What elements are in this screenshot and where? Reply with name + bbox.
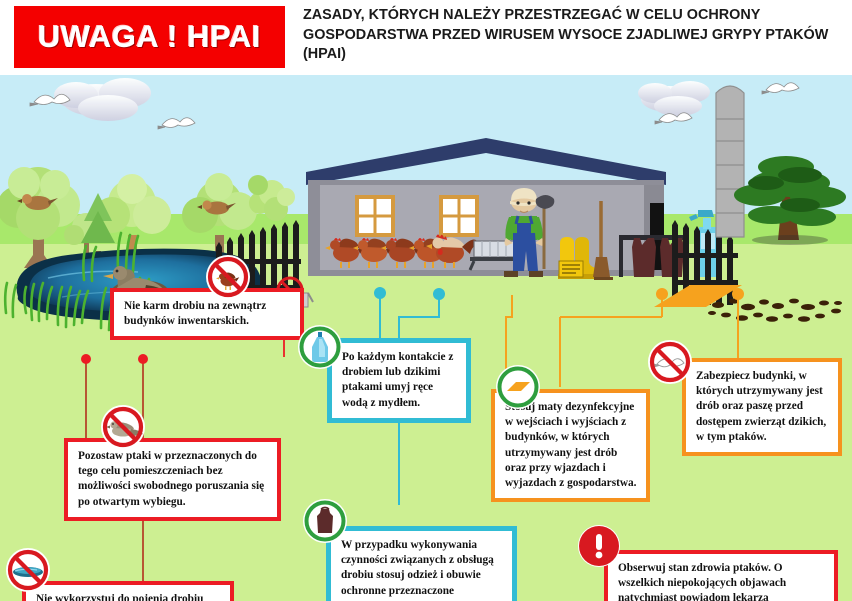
callout-text: Po każdym kontakcie z drobiem lub dzikim… — [342, 351, 453, 409]
barn-window — [441, 197, 477, 235]
banner-label: UWAGA ! HPAI — [38, 19, 261, 55]
spray-bottle — [689, 210, 717, 277]
large-tree — [734, 156, 846, 245]
callout-text: Nie wykorzystuj do pojenia drobiu wody z… — [36, 593, 217, 601]
page-title: ZASADY, KTÓRYCH NALEŻY PRZESTRZEGAĆ W CE… — [303, 6, 843, 65]
barn-window — [357, 197, 393, 235]
protective-apron-icon — [303, 499, 347, 543]
connector-dot — [433, 288, 445, 300]
callout-text: Nie karm drobiu na zewnątrz budynków inw… — [124, 300, 266, 327]
apron — [632, 238, 656, 277]
connector-dot — [138, 354, 148, 364]
cloud-right — [638, 81, 710, 116]
flying-bird — [655, 113, 692, 124]
tree-left — [0, 167, 80, 268]
callout-monitor-health[interactable]: Obserwuj stan zdrowia ptaków. O wszelkic… — [604, 550, 838, 601]
no-pond-water-icon — [6, 548, 50, 592]
disinfection-mat-icon — [496, 365, 540, 409]
farm-scene: Nie karm drobiu na zewnątrz budynków inw… — [0, 75, 852, 601]
callout-text: Obserwuj stan zdrowia ptaków. O wszelkic… — [618, 562, 786, 601]
callout-text: Pozostaw ptaki w przeznaczonych do tego … — [78, 450, 264, 508]
connector-dot — [81, 354, 91, 364]
callout-text: Zabezpiecz budynki, w których utrzymywan… — [696, 370, 826, 443]
soap-bottle-icon — [298, 325, 342, 369]
connector-dot — [374, 287, 386, 299]
warning-banner: UWAGA ! HPAI — [14, 6, 285, 68]
callout-protective-clothing[interactable]: W przypadku wykonywania czynności związa… — [326, 526, 517, 601]
callout-text: Stosuj maty dezynfekcyjne w wejściach i … — [505, 401, 636, 489]
callout-no-wild-water[interactable]: Nie wykorzystuj do pojenia drobiu wody z… — [22, 581, 234, 601]
callout-keep-birds-indoors[interactable]: Pozostaw ptaki w przeznaczonych do tego … — [64, 438, 281, 521]
infographic-page: UWAGA ! HPAI ZASADY, KTÓRYCH NALEŻY PRZE… — [0, 0, 852, 601]
callout-text: W przypadku wykonywania czynności związa… — [341, 539, 494, 601]
no-wild-animal-access-icon — [648, 340, 692, 384]
warning-sign-small — [559, 261, 583, 277]
no-chicken-feeding-icon — [206, 255, 250, 299]
header: UWAGA ! HPAI ZASADY, KTÓRYCH NALEŻY PRZE… — [0, 0, 852, 75]
flying-bird — [158, 118, 195, 129]
flying-bird — [762, 83, 799, 94]
no-free-range-bird-icon — [101, 405, 145, 449]
silo — [716, 86, 744, 237]
callout-wash-hands[interactable]: Po każdym kontakcie z drobiem lub dzikim… — [327, 338, 471, 423]
callout-secure-buildings[interactable]: Zabezpiecz budynki, w których utrzymywan… — [682, 358, 842, 456]
exclamation-alert-icon — [578, 525, 620, 567]
